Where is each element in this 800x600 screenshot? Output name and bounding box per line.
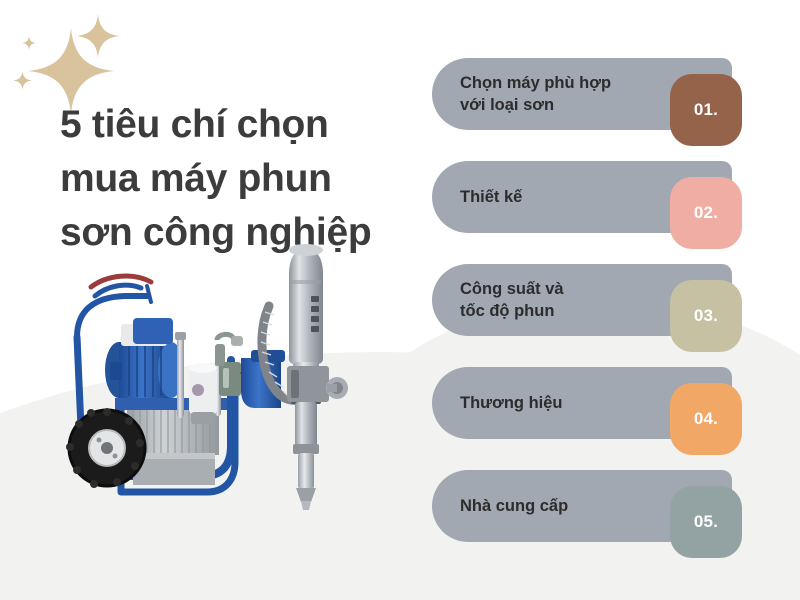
page-title-line-1: 5 tiêu chí chọn [60, 98, 420, 152]
criteria-item-2[interactable]: Thiết kế 02. [432, 161, 732, 233]
page-title: 5 tiêu chí chọn mua máy phun sơn công ng… [60, 98, 420, 259]
criteria-badge-2: 02. [670, 177, 742, 249]
sparkle-small-top-icon [22, 36, 36, 50]
criteria-label-4: Thương hiệu [432, 392, 637, 414]
paint-sprayer-machine-image [55, 240, 365, 540]
criteria-label-1: Chọn máy phù hợp với loại sơn [432, 72, 685, 116]
criteria-label-2: Thiết kế [432, 186, 596, 208]
criteria-label-3: Công suất và tốc độ phun [432, 278, 638, 322]
criteria-item-4[interactable]: Thương hiệu 04. [432, 367, 732, 439]
criteria-badge-1: 01. [670, 74, 742, 146]
page-title-line-2: mua máy phun [60, 152, 420, 206]
criteria-label-5: Nhà cung cấp [432, 495, 642, 517]
sparkle-small-left-icon [13, 71, 32, 90]
criteria-badge-4: 04. [670, 383, 742, 455]
criteria-item-1[interactable]: Chọn máy phù hợp với loại sơn 01. [432, 58, 732, 130]
sparkle-medium-icon [76, 14, 120, 58]
infographic-canvas: 5 tiêu chí chọn mua máy phun sơn công ng… [0, 0, 800, 600]
criteria-badge-3: 03. [670, 280, 742, 352]
criteria-list: Chọn máy phù hợp với loại sơn 01. Thiết … [432, 58, 762, 558]
criteria-item-3[interactable]: Công suất và tốc độ phun 03. [432, 264, 732, 336]
criteria-badge-5: 05. [670, 486, 742, 558]
criteria-item-5[interactable]: Nhà cung cấp 05. [432, 470, 732, 542]
